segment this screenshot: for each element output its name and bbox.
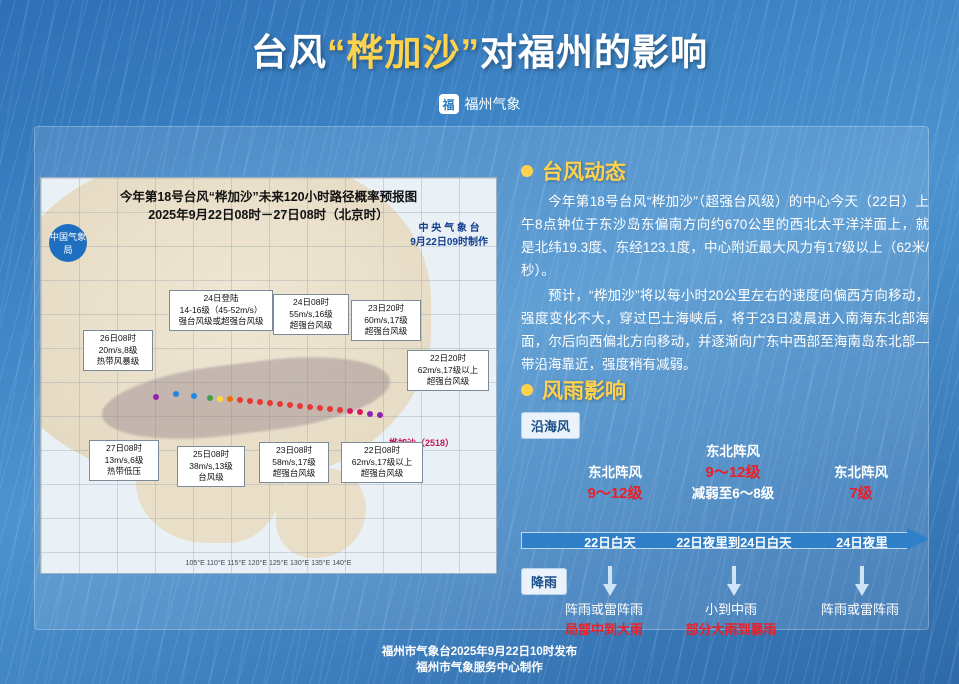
track-point: [237, 397, 243, 403]
map-issuer: 中 央 气 象 台 9月22日09时制作: [410, 222, 488, 250]
map-longitude-axis: 105°E 110°E 115°E 120°E 125°E 130°E 135°…: [41, 560, 496, 567]
footer-line1: 福州市气象台2025年9月22日10时发布: [0, 644, 959, 660]
down-arrow-icon-2: [727, 566, 741, 596]
page-title: 台风“桦加沙”对福州的影响: [0, 22, 959, 76]
wind-col-3-line2: 7级: [806, 483, 916, 504]
rain-column-1: 阵雨或雷阵雨 局部中到大雨: [530, 600, 678, 640]
track-annotation: 24日08时 55m/s,16级 超强台风级: [273, 294, 349, 335]
rain-column-2: 小到中雨 部分大雨到暴雨: [668, 600, 794, 640]
map-issuer-line2: 9月22日09时制作: [410, 236, 488, 250]
section-title-impact: 风雨影响: [542, 375, 626, 405]
track-annotation: 26日08时 20m/s,8级 热带风暴级: [83, 330, 153, 371]
track-annotation: 22日08时 62m/s,17级以上 超强台风级: [341, 442, 423, 483]
track-point: [367, 411, 373, 417]
map-title: 今年第18号台风“桦加沙”未来120小时路径概率预报图 2025年9月22日08…: [41, 188, 496, 224]
dynamics-paragraph-1: 今年第18号台风“桦加沙”（超强台风级）的中心今天（22日）上午8点钟位于东沙岛…: [521, 190, 929, 282]
track-point: [191, 393, 197, 399]
track-point: [287, 402, 293, 408]
track-point: [377, 412, 383, 418]
brand-label: 福州气象: [465, 94, 521, 114]
track-point: [277, 401, 283, 407]
wind-column-1: 东北阵风 9～12级: [560, 462, 670, 504]
page-title-prefix: 台风: [251, 32, 327, 73]
dynamics-body: 今年第18号台风“桦加沙”（超强台风级）的中心今天（22日）上午8点钟位于东沙岛…: [521, 190, 929, 378]
wind-column-2: 东北阵风 9～12级 减弱至6～8级: [666, 441, 800, 504]
down-arrow-icon-3: [855, 566, 869, 596]
track-annotation: 23日20时 60m/s,17级 超强台风级: [351, 300, 421, 341]
cma-logo-icon: 中国气象局: [49, 224, 87, 262]
tag-rainfall: 降雨: [521, 568, 567, 595]
track-annotation: 27日08时 13m/s,6级 热带低压: [89, 440, 159, 481]
track-point: [317, 405, 323, 411]
page-title-highlight: “桦加沙”: [327, 32, 480, 73]
section-header-dynamics: 台风动态: [521, 156, 626, 186]
rain-column-3: 阵雨或雷阵雨: [790, 600, 930, 620]
track-point: [327, 406, 333, 412]
track-annotation: 25日08时 38m/s,13级 台风级: [177, 446, 245, 487]
track-point: [267, 400, 273, 406]
dynamics-paragraph-2: 预计，“桦加沙”将以每小时20公里左右的速度向偏西方向移动，强度变化不大，穿过巴…: [521, 284, 929, 376]
track-point: [247, 398, 253, 404]
rain-col-2-line2: 部分大雨到暴雨: [668, 620, 794, 640]
track-point: [297, 403, 303, 409]
tag-coastal-wind: 沿海风: [521, 412, 580, 439]
track-annotation: 23日08时 58m/s,17级 超强台风级: [259, 442, 329, 483]
track-point: [217, 396, 223, 402]
brand-logo-icon: 福: [439, 94, 459, 114]
track-point: [357, 409, 363, 415]
track-point: [337, 407, 343, 413]
timeline-label-2: 22日夜里到24日白天: [660, 532, 808, 551]
map-title-line1: 今年第18号台风“桦加沙”未来120小时路径概率预报图: [41, 188, 496, 206]
bullet-icon: [521, 165, 533, 177]
brand: 福 福州气象: [0, 94, 959, 114]
bullet-icon: [521, 384, 533, 396]
wind-col-1-line2: 9～12级: [560, 483, 670, 504]
section-title-dynamics: 台风动态: [542, 156, 626, 186]
track-annotation: 22日20时 62m/s,17级以上 超强台风级: [407, 350, 489, 391]
rain-col-1-line1: 阵雨或雷阵雨: [530, 600, 678, 620]
track-point: [307, 404, 313, 410]
section-header-impact: 风雨影响: [521, 375, 626, 405]
typhoon-track-map: 今年第18号台风“桦加沙”未来120小时路径概率预报图 2025年9月22日08…: [40, 177, 497, 574]
rain-col-2-line1: 小到中雨: [668, 600, 794, 620]
map-issuer-line1: 中 央 气 象 台: [410, 222, 488, 236]
timeline-label-1: 22日白天: [555, 532, 665, 551]
rain-col-3-line1: 阵雨或雷阵雨: [790, 600, 930, 620]
footer-line2: 福州市气象服务中心制作: [0, 660, 959, 676]
page-title-suffix: 对福州的影响: [480, 32, 708, 73]
wind-col-1-line1: 东北阵风: [560, 462, 670, 483]
down-arrow-icon-1: [603, 566, 617, 596]
rain-col-1-line2: 局部中到大雨: [530, 620, 678, 640]
timeline-label-3: 24日夜里: [812, 532, 912, 551]
wind-col-2-line3: 减弱至6～8级: [666, 483, 800, 504]
wind-column-3: 东北阵风 7级: [806, 462, 916, 504]
footer: 福州市气象台2025年9月22日10时发布 福州市气象服务中心制作: [0, 644, 959, 676]
wind-col-2-line2: 9～12级: [666, 462, 800, 483]
track-point: [347, 408, 353, 414]
track-annotation: 24日登陆 14-16级（45-52m/s） 强台风级或超强台风级: [169, 290, 273, 331]
track-point: [207, 395, 213, 401]
track-point: [227, 396, 233, 402]
wind-col-2-line1: 东北阵风: [666, 441, 800, 462]
track-point: [153, 394, 159, 400]
track-point: [257, 399, 263, 405]
track-point: [173, 391, 179, 397]
wind-col-3-line1: 东北阵风: [806, 462, 916, 483]
